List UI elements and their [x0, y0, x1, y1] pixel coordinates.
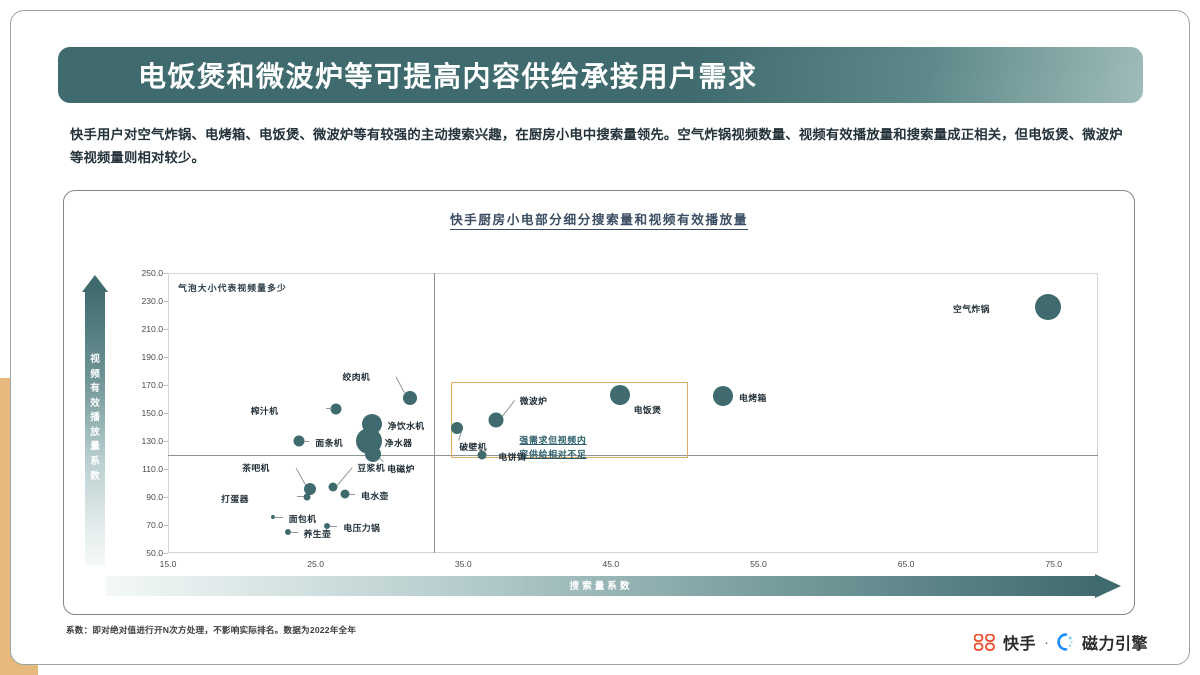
highlight-annotation: 强需求但视频内容供给相对不足: [519, 434, 586, 461]
y-tick-label: 250.0: [141, 268, 163, 278]
scatter-point-label: 电压力锅: [343, 521, 380, 534]
highlight-annotation-line1: 强需求但视频内: [519, 434, 586, 448]
x-tick-label: 75.0: [1045, 559, 1062, 569]
label-leader-line: [486, 455, 492, 456]
scatter-point-label: 电烤箱: [739, 391, 767, 404]
x-tick-label: 45.0: [602, 559, 619, 569]
kuaishou-wordmark: 快手: [1003, 630, 1036, 654]
quadrant-divider-vertical: [434, 273, 435, 553]
y-tick-label: 110.0: [142, 464, 163, 474]
highlight-annotation-line2: 容供给相对不足: [519, 448, 586, 462]
y-tick-mark: [164, 413, 168, 414]
y-axis-title: 视频有效播放量系数: [86, 353, 104, 484]
y-tick-label: 170.0: [141, 380, 163, 390]
y-tick-mark: [164, 441, 168, 442]
scatter-point-label: 电饭煲: [634, 403, 662, 416]
label-leader-line: [297, 496, 304, 497]
y-tick-mark: [164, 329, 168, 330]
title-banner: 电饭煲和微波炉等可提高内容供给承接用户需求: [58, 47, 1143, 103]
x-tick-label: 35.0: [455, 559, 472, 569]
slide-root: 电饭煲和微波炉等可提高内容供给承接用户需求 快手用户对空气炸锅、电烤箱、电饭煲、…: [0, 0, 1200, 675]
y-tick-label: 70.0: [146, 520, 163, 530]
x-tick-label: 25.0: [307, 559, 324, 569]
scatter-bubble[interactable]: [488, 413, 503, 428]
label-leader-line: [290, 532, 298, 533]
scatter-point-label: 净饮水机: [388, 419, 425, 432]
y-axis-arrow: 视频有效播放量系数: [82, 275, 108, 565]
scatter-point-label: 绞肉机: [343, 370, 371, 383]
y-tick-mark: [164, 469, 168, 470]
scatter-bubble[interactable]: [1035, 294, 1061, 320]
y-tick-label: 210.0: [141, 324, 163, 334]
x-axis-arrow-head-icon: [1095, 574, 1121, 598]
magnetic-engine-logo-icon: [1057, 633, 1075, 651]
chart-title-text: 快手厨房小电部分细分搜索量和视频有效播放量: [450, 213, 748, 230]
scatter-point-label: 电饼铛: [498, 450, 526, 463]
scatter-point-label: 面条机: [315, 436, 343, 449]
scatter-point-label: 茶吧机: [242, 461, 270, 474]
bubble-size-note: 气泡大小代表视频量多少: [178, 281, 287, 294]
logo-separator: ·: [1044, 634, 1049, 651]
footnote: 系数：即对绝对值进行开N次方处理，不影响实际排名。数据为2022年全年: [66, 624, 356, 636]
scatter-point-label: 榨汁机: [251, 404, 279, 417]
plot-area: 250.0230.0210.0190.0170.0150.0130.0110.0…: [168, 273, 1098, 553]
scatter-point-label: 净水器: [385, 436, 413, 449]
y-tick-label: 90.0: [146, 492, 163, 502]
y-tick-mark: [164, 301, 168, 302]
engine-wordmark: 磁力引擎: [1082, 630, 1148, 654]
y-tick-mark: [164, 357, 168, 358]
x-tick-label: 65.0: [898, 559, 915, 569]
y-tick-mark: [164, 385, 168, 386]
scatter-point-label: 打蛋器: [221, 492, 249, 505]
scatter-bubble[interactable]: [365, 446, 381, 462]
y-tick-label: 190.0: [141, 352, 163, 362]
y-tick-mark: [164, 553, 168, 554]
x-axis-arrow: 搜索量系数: [106, 574, 1121, 598]
scatter-bubble[interactable]: [303, 494, 310, 501]
scatter-bubble[interactable]: [403, 391, 417, 405]
scatter-bubble[interactable]: [610, 385, 630, 405]
scatter-point-label: 电水壶: [361, 489, 389, 502]
scatter-point-label: 微波炉: [520, 394, 548, 407]
y-tick-mark: [164, 273, 168, 274]
label-leader-line: [326, 408, 332, 409]
x-axis-title: 搜索量系数: [106, 578, 1096, 592]
chart-card: 快手厨房小电部分细分搜索量和视频有效播放量 视频有效播放量系数 搜索量系数 25…: [63, 190, 1135, 615]
chart-title: 快手厨房小电部分细分搜索量和视频有效播放量: [64, 209, 1134, 228]
x-tick-label: 55.0: [750, 559, 767, 569]
kuaishou-logo-icon: [974, 634, 996, 651]
label-leader-line: [274, 517, 282, 518]
y-tick-label: 150.0: [141, 408, 163, 418]
scatter-point-label: 空气炸锅: [953, 302, 990, 315]
y-tick-label: 130.0: [141, 436, 163, 446]
label-leader-line: [304, 441, 310, 442]
scatter-bubble[interactable]: [713, 386, 733, 406]
scatter-point-label: 豆浆机: [357, 461, 385, 474]
page-title: 电饭煲和微波炉等可提高内容供给承接用户需求: [138, 55, 758, 95]
y-tick-mark: [164, 525, 168, 526]
brand-logo: 快手 · 磁力引擎: [974, 630, 1148, 654]
label-leader-line: [349, 494, 355, 495]
y-axis-arrow-head-icon: [82, 275, 108, 292]
scatter-point-label: 面包机: [289, 512, 317, 525]
scatter-bubble[interactable]: [331, 403, 342, 414]
x-tick-label: 15.0: [160, 559, 177, 569]
y-tick-label: 50.0: [146, 548, 163, 558]
y-tick-label: 230.0: [141, 296, 163, 306]
label-leader-line: [330, 526, 338, 527]
y-tick-mark: [164, 497, 168, 498]
scatter-point-label: 电磁炉: [387, 462, 415, 475]
body-paragraph: 快手用户对空气炸锅、电烤箱、电饭煲、微波炉等有较强的主动搜索兴趣，在厨房小电中搜…: [70, 124, 1125, 170]
